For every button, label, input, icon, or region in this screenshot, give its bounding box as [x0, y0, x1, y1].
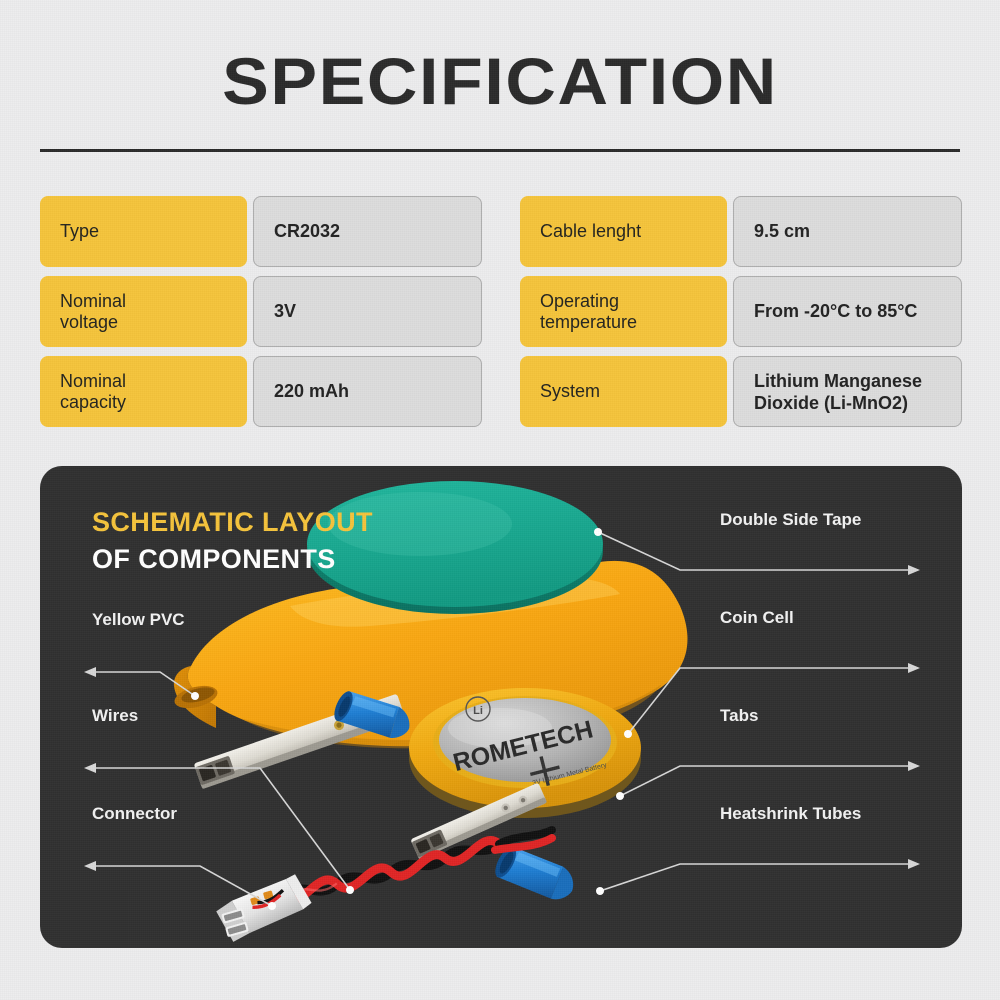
spec-value: 9.5 cm: [733, 196, 962, 267]
table-row: Nominal voltage 3V: [40, 276, 482, 347]
panel-heading-line1: SCHEMATIC LAYOUT: [92, 506, 373, 538]
spec-value: Lithium Manganese Dioxide (Li-MnO2): [733, 356, 962, 427]
spec-key: Operating temperature: [520, 276, 727, 347]
schematic-panel: ROMETECH 3V Lithium Metal Battery Li: [40, 466, 962, 948]
panel-heading-line2: OF COMPONENTS: [92, 543, 373, 575]
table-row: Operating temperature From -20°C to 85°C: [520, 276, 962, 347]
callout-label-double-side-tape: Double Side Tape: [720, 510, 861, 530]
callout-label-wires: Wires: [92, 706, 138, 726]
spec-key: Nominal voltage: [40, 276, 247, 347]
table-row: System Lithium Manganese Dioxide (Li-MnO…: [520, 356, 962, 427]
spec-value: CR2032: [253, 196, 482, 267]
spec-key: Type: [40, 196, 247, 267]
spec-key: System: [520, 356, 727, 427]
spec-key: Cable lenght: [520, 196, 727, 267]
leader-arrowheads: [84, 565, 920, 871]
panel-heading: SCHEMATIC LAYOUT OF COMPONENTS: [92, 506, 373, 575]
table-row: Cable lenght 9.5 cm: [520, 196, 962, 267]
callout-label-heatshrink-tubes: Heatshrink Tubes: [720, 804, 861, 824]
spec-value: 220 mAh: [253, 356, 482, 427]
table-row: Type CR2032: [40, 196, 482, 267]
specification-table: Type CR2032 Nominal voltage 3V Nominal c…: [40, 196, 962, 427]
page-title: SPECIFICATION: [0, 48, 1000, 114]
spec-key: Nominal capacity: [40, 356, 247, 427]
spec-column-left: Type CR2032 Nominal voltage 3V Nominal c…: [40, 196, 482, 427]
title-divider: [40, 149, 960, 152]
spec-value: 3V: [253, 276, 482, 347]
leader-endpoint-dots: [191, 528, 632, 910]
spec-value: From -20°C to 85°C: [733, 276, 962, 347]
table-row: Nominal capacity 220 mAh: [40, 356, 482, 427]
callout-label-connector: Connector: [92, 804, 177, 824]
callout-label-coin-cell: Coin Cell: [720, 608, 794, 628]
callout-label-tabs: Tabs: [720, 706, 758, 726]
spec-column-right: Cable lenght 9.5 cm Operating temperatur…: [520, 196, 962, 427]
callout-label-yellow-pvc: Yellow PVC: [92, 610, 185, 630]
